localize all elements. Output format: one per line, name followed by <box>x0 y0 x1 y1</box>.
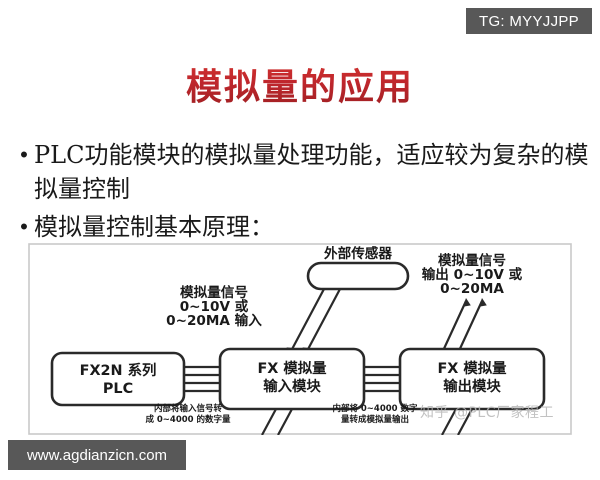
external-sensor-label: 外部传感器 <box>324 245 392 262</box>
bullet-list: • PLC功能模块的模拟量处理功能，适应较为复杂的模拟量控制 • 模拟量控制基本… <box>14 138 590 248</box>
caption1-wire-1 <box>262 409 276 435</box>
input-signal-label-line3: 0~20MA 输入 <box>166 312 262 329</box>
sensor-wire-2 <box>306 289 340 353</box>
plc-box <box>52 353 184 405</box>
zhihu-watermark: 知乎 @PLC厂家程工 <box>420 402 554 422</box>
external-sensor-shape <box>308 263 408 289</box>
list-item: • 模拟量控制基本原理： <box>14 210 590 244</box>
bullet-text: 模拟量控制基本原理： <box>34 210 274 244</box>
input-conversion-caption-line2: 成 0~4000 的数字量 <box>120 415 256 426</box>
site-url-bar: www.agdianzicn.com <box>8 440 186 470</box>
analog-input-module-line2: 输入模块 <box>263 377 321 395</box>
bullet-marker-icon: • <box>14 138 34 172</box>
plc-box-line2: PLC <box>103 381 133 397</box>
output-wire-arrow-2 <box>479 298 487 307</box>
tg-tag-badge: TG: MYYJJPP <box>466 8 592 34</box>
bullet-marker-icon: • <box>14 210 34 244</box>
analog-output-module-line2: 输出模块 <box>443 377 501 395</box>
slide-canvas: TG: MYYJJPP 模拟量的应用 • PLC功能模块的模拟量处理功能，适应较… <box>0 0 600 480</box>
analog-output-module-line1: FX 模拟量 <box>437 359 507 377</box>
plc-box-line1: FX2N 系列 <box>80 361 157 379</box>
bullet-text: PLC功能模块的模拟量处理功能，适应较为复杂的模拟量控制 <box>34 138 590 206</box>
list-item: • PLC功能模块的模拟量处理功能，适应较为复杂的模拟量控制 <box>14 138 590 206</box>
sensor-wire-1 <box>290 289 324 353</box>
page-title: 模拟量的应用 <box>0 58 600 110</box>
output-wire-arrow-1 <box>463 298 471 307</box>
output-signal-label-line3: 0~20MA <box>440 281 504 297</box>
input-conversion-caption: 内部将输入信号转 成 0~4000 的数字量 <box>120 404 256 426</box>
analog-input-module-line1: FX 模拟量 <box>257 359 327 377</box>
input-conversion-caption-line1: 内部将输入信号转 <box>120 404 256 415</box>
caption1-wire-2 <box>278 409 292 435</box>
